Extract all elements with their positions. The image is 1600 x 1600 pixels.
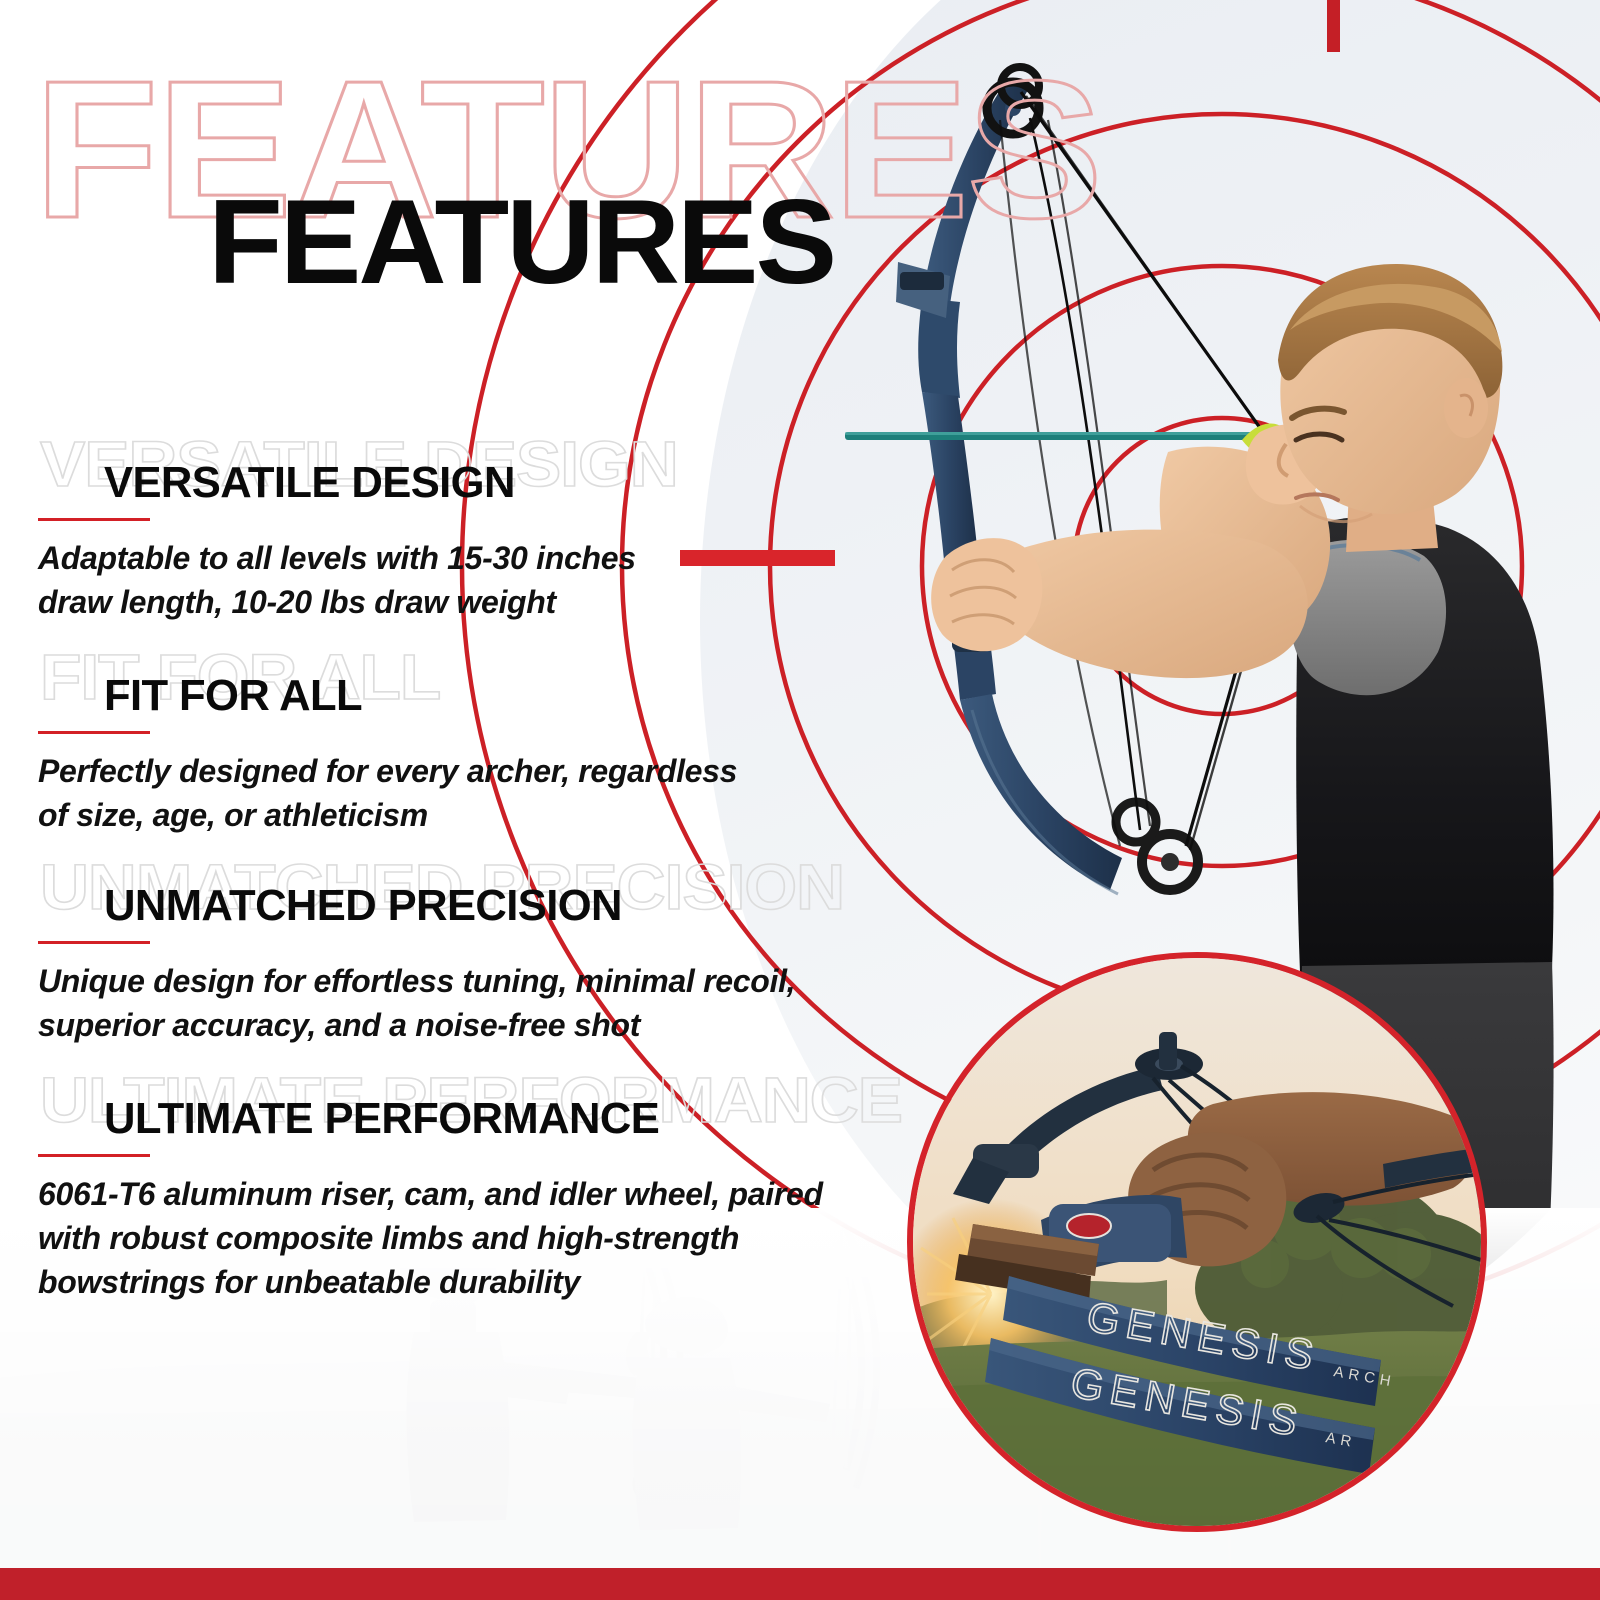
- feature-underline: [38, 518, 150, 521]
- feature-underline: [38, 941, 150, 944]
- feature-body: 6061-T6 aluminum riser, cam, and idler w…: [38, 1172, 888, 1304]
- crosshair-tick-vertical: [1327, 0, 1340, 52]
- bottom-accent-bar: [0, 1568, 1600, 1600]
- feature-heading: FIT FOR ALL: [104, 674, 362, 718]
- inset-circle-photo: GENESIS ARCH GENESIS AR: [907, 952, 1487, 1532]
- feature-body: Adaptable to all levels with 15-30 inche…: [38, 536, 638, 624]
- feature-underline: [38, 731, 150, 734]
- infographic-canvas: Hurricane: [0, 0, 1600, 1600]
- feature-heading: UNMATCHED PRECISION: [104, 884, 622, 928]
- feature-underline: [38, 1154, 150, 1157]
- page-title: FEATURES: [208, 182, 834, 302]
- crosshair-tick-horizontal: [680, 550, 835, 566]
- feature-heading: VERSATILE DESIGN: [104, 461, 515, 505]
- feature-body: Perfectly designed for every archer, reg…: [38, 749, 738, 837]
- feature-body: Unique design for effortless tuning, min…: [38, 959, 798, 1047]
- feature-heading: ULTIMATE PERFORMANCE: [104, 1097, 659, 1141]
